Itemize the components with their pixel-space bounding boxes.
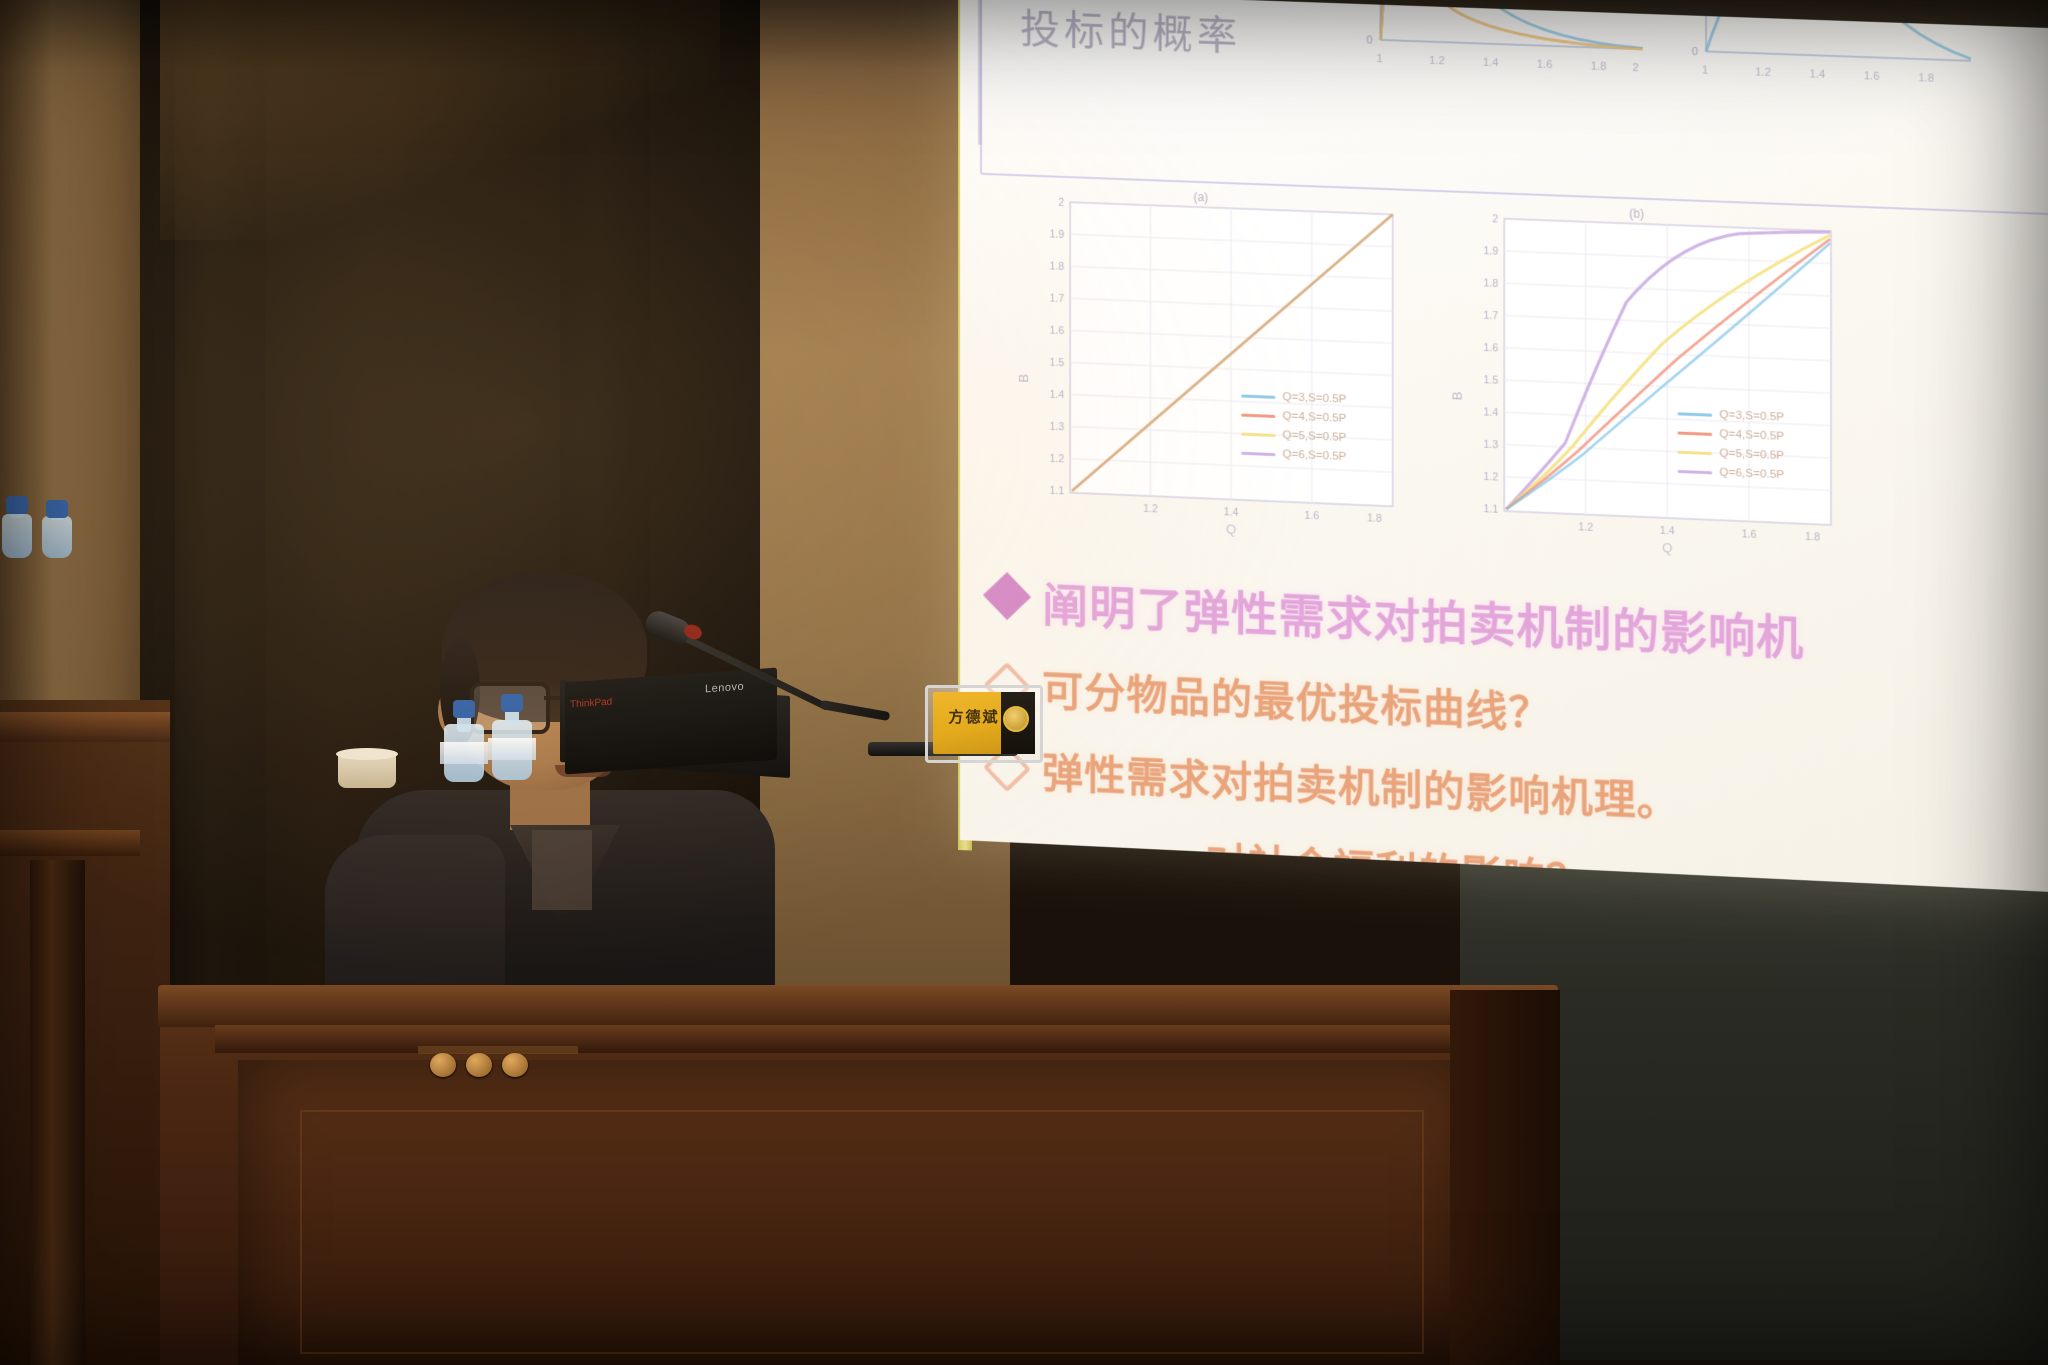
svg-text:1.8: 1.8 (1805, 531, 1820, 544)
podium-right-edge (1450, 990, 1560, 1365)
chart-b-legend: Q=3,S=0.5P Q=4,S=0.5P Q=5,S=0.5P Q= (1677, 404, 1784, 485)
svg-text:2: 2 (1058, 197, 1064, 209)
svg-text:1.4: 1.4 (1809, 68, 1825, 81)
legend-swatch-blue (1241, 394, 1275, 398)
bullet-text: 弹性需求对拍卖机制的影响机理。 (1042, 739, 1679, 829)
svg-text:1.4: 1.4 (1483, 406, 1498, 419)
svg-text:1.3: 1.3 (1049, 421, 1064, 434)
svg-text:1.2: 1.2 (1578, 521, 1593, 534)
podium-front-lip (215, 1025, 1505, 1053)
photo-scene: 投标的概率 0.2 0 1 1.2 1.4 1.6 1.8 2 (0, 0, 2048, 1365)
svg-text:1.9: 1.9 (1049, 228, 1064, 241)
legend-swatch-purple (1241, 452, 1275, 456)
side-lectern-top (0, 712, 170, 742)
bullet-text: 可分物品的最优投标曲线？ (1042, 657, 1551, 740)
water-bottle-2 (488, 694, 536, 780)
svg-text:1.6: 1.6 (1864, 70, 1880, 83)
legend-swatch-orange (1677, 431, 1712, 435)
svg-text:1.2: 1.2 (1143, 503, 1158, 516)
nameplate-name: 方德斌 (943, 706, 1005, 727)
legend-swatch-orange (1241, 414, 1275, 418)
projection-screen: 投标的概率 0.2 0 1 1.2 1.4 1.6 1.8 2 (960, 0, 2048, 894)
svg-text:1.6: 1.6 (1049, 325, 1064, 338)
svg-text:1.6: 1.6 (1537, 59, 1553, 72)
svg-text:1.8: 1.8 (1367, 512, 1382, 525)
svg-text:1.8: 1.8 (1918, 72, 1934, 85)
svg-text:1.6: 1.6 (1483, 342, 1498, 355)
chart-a-ylabel: B (1016, 374, 1031, 383)
legend-label: Q=6,S=0.5P (1719, 464, 1784, 486)
laptop-lid (565, 668, 777, 775)
svg-text:1: 1 (1702, 64, 1708, 76)
svg-text:1: 1 (1376, 53, 1382, 65)
legend-swatch-yellow (1677, 451, 1712, 455)
legend-label: Q=4,S=0.5P (1719, 425, 1784, 447)
svg-text:1.8: 1.8 (1591, 60, 1607, 73)
water-bottle-left-2 (40, 500, 74, 558)
paper-cup-rim (336, 748, 398, 760)
speaker-shirt (532, 830, 592, 910)
nameplate-seal-icon (1003, 706, 1029, 732)
svg-text:1.3: 1.3 (1483, 439, 1498, 452)
nameplate-card: 方德斌 (933, 692, 1035, 754)
side-lectern (0, 700, 170, 1365)
legend-swatch-yellow (1241, 433, 1275, 437)
svg-text:2: 2 (1633, 62, 1639, 74)
podium-top-surface (158, 985, 1558, 1027)
svg-text:(b): (b) (1629, 206, 1644, 221)
svg-text:1.4: 1.4 (1660, 525, 1675, 538)
svg-text:1.1: 1.1 (1049, 485, 1064, 498)
wall-upper-band (0, 0, 1010, 70)
podium-button-1[interactable] (430, 1053, 456, 1077)
svg-text:1.2: 1.2 (1483, 471, 1498, 484)
svg-text:1.8: 1.8 (1049, 260, 1064, 273)
legend-label: Q=3,S=0.5P (1282, 388, 1346, 410)
legend-label: Q=5,S=0.5P (1282, 426, 1346, 448)
svg-text:0: 0 (1692, 46, 1698, 58)
svg-text:1.4: 1.4 (1483, 57, 1499, 70)
water-bottle-left-1 (0, 496, 34, 558)
side-lectern-shelf (0, 830, 140, 856)
slide-bullet-list: 阐明了弹性需求对拍卖机制的影响机 可分物品的最优投标曲线？ 弹性需求对拍卖机制的… (990, 566, 2048, 894)
solid-diamond-icon (983, 572, 1031, 620)
mini-chart-left: 0.2 0 1 1.2 1.4 1.6 1.8 2 (1342, 0, 1647, 85)
legend-label: Q=4,S=0.5P (1282, 407, 1346, 429)
svg-text:1.4: 1.4 (1224, 506, 1239, 519)
chart-a-legend: Q=3,S=0.5P Q=4,S=0.5P Q=5,S=0.5P Q= (1241, 386, 1346, 467)
chart-a-xlabel: Q (1226, 521, 1236, 536)
svg-text:2: 2 (1492, 213, 1498, 225)
svg-text:0: 0 (1366, 34, 1372, 46)
svg-text:1.9: 1.9 (1483, 245, 1498, 258)
side-lectern-column (30, 860, 85, 1365)
svg-text:1.1: 1.1 (1483, 503, 1498, 516)
svg-text:1.7: 1.7 (1049, 293, 1064, 306)
svg-text:1.6: 1.6 (1304, 510, 1319, 523)
svg-text:1.2: 1.2 (1755, 66, 1771, 79)
legend-label: Q=5,S=0.5P (1719, 444, 1784, 466)
chart-b: (b) 21.91.8 1.71.61.5 (1443, 198, 1841, 547)
podium-control-buttons[interactable] (430, 1052, 560, 1078)
podium-inset-panel (300, 1110, 1424, 1354)
presentation-slide: 投标的概率 0.2 0 1 1.2 1.4 1.6 1.8 2 (960, 0, 2048, 894)
svg-text:1.8: 1.8 (1483, 277, 1498, 290)
legend-label: Q=3,S=0.5P (1719, 406, 1784, 428)
svg-text:1.2: 1.2 (1049, 453, 1064, 466)
svg-text:1.5: 1.5 (1049, 357, 1064, 370)
svg-text:1.7: 1.7 (1483, 310, 1498, 323)
podium-button-2[interactable] (466, 1053, 492, 1077)
slide-title: 投标的概率 (1020, 0, 1241, 62)
water-bottle-1 (440, 700, 488, 782)
chart-b-xlabel: Q (1662, 540, 1672, 556)
podium-button-3[interactable] (502, 1053, 528, 1077)
mini-chart-right: 0.2 0 1 1.2 1.4 1.6 1.8 (1667, 0, 1975, 97)
svg-text:(a): (a) (1193, 190, 1208, 205)
legend-swatch-purple (1677, 470, 1712, 474)
desk-nameplate: 方德斌 (925, 685, 1043, 763)
legend-label: Q=6,S=0.5P (1282, 445, 1346, 467)
chart-a: (a) 21.91.8 1.71.61.5 (1010, 182, 1403, 529)
svg-text:1.2: 1.2 (1429, 55, 1445, 68)
svg-text:1.6: 1.6 (1742, 528, 1757, 541)
svg-text:1.4: 1.4 (1049, 389, 1064, 402)
chart-b-ylabel: B (1449, 391, 1464, 400)
svg-text:1.5: 1.5 (1483, 374, 1498, 387)
bullet-text: 阐明了弹性需求对拍卖机制的影响机 (1042, 569, 1804, 669)
legend-swatch-blue (1677, 412, 1712, 416)
